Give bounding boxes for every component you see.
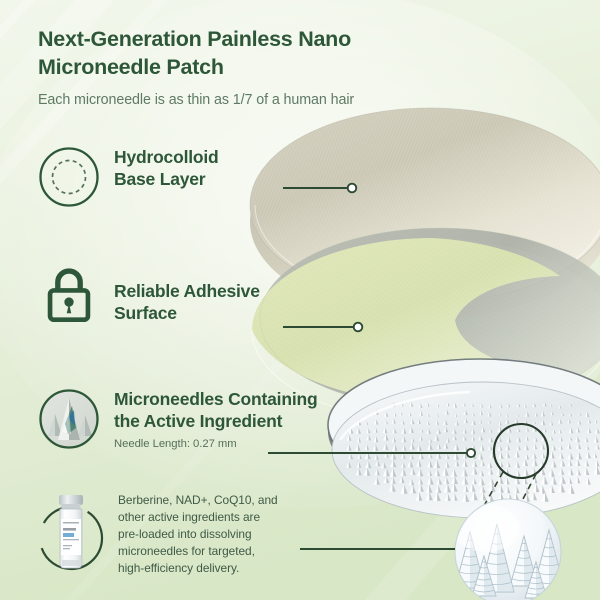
feature-microneedles: Microneedles Containing the Active Ingre…: [38, 388, 317, 455]
feature-hydrocolloid-heading-line1: Hydrocolloid: [114, 146, 219, 168]
page-title: Next-Generation Painless Nano Microneedl…: [38, 26, 468, 82]
page-title-line1: Next-Generation Painless Nano: [38, 26, 468, 54]
header: Next-Generation Painless Nano Microneedl…: [38, 26, 468, 109]
feature-hydrocolloid-heading-line2: Base Layer: [114, 168, 219, 190]
feature-ingredients-line2: other active ingredients are: [118, 509, 278, 526]
page-title-line2: Microneedle Patch: [38, 54, 468, 82]
feature-microneedles-heading-line2: the Active Ingredient: [114, 410, 317, 432]
feature-adhesive-heading-line1: Reliable Adhesive: [114, 280, 260, 302]
feature-ingredients-line4: microneedles for targeted,: [118, 543, 278, 560]
feature-adhesive: Reliable Adhesive Surface: [38, 262, 260, 329]
padlock-icon: [38, 262, 100, 329]
feature-adhesive-heading-line2: Surface: [114, 302, 260, 324]
feature-ingredients-line5: high-efficiency delivery.: [118, 560, 278, 577]
feature-hydrocolloid: Hydrocolloid Base Layer: [38, 146, 219, 213]
feature-microneedles-heading-line1: Microneedles Containing: [114, 388, 317, 410]
feature-ingredients-line1: Berberine, NAD+, CoQ10, and: [118, 492, 278, 509]
microneedle-crystal-icon: [38, 388, 100, 455]
feature-ingredients-line3: pre-loaded into dissolving: [118, 526, 278, 543]
microneedle-array-disc: [328, 359, 600, 520]
dashed-circle-icon: [38, 146, 100, 213]
page-subtitle: Each microneedle is as thin as 1/7 of a …: [38, 91, 468, 110]
feature-ingredients: Berberine, NAD+, CoQ10, and other active…: [38, 490, 278, 587]
feature-microneedles-subtext: Needle Length: 0.27 mm: [114, 438, 317, 450]
vial-icon: [38, 490, 104, 587]
